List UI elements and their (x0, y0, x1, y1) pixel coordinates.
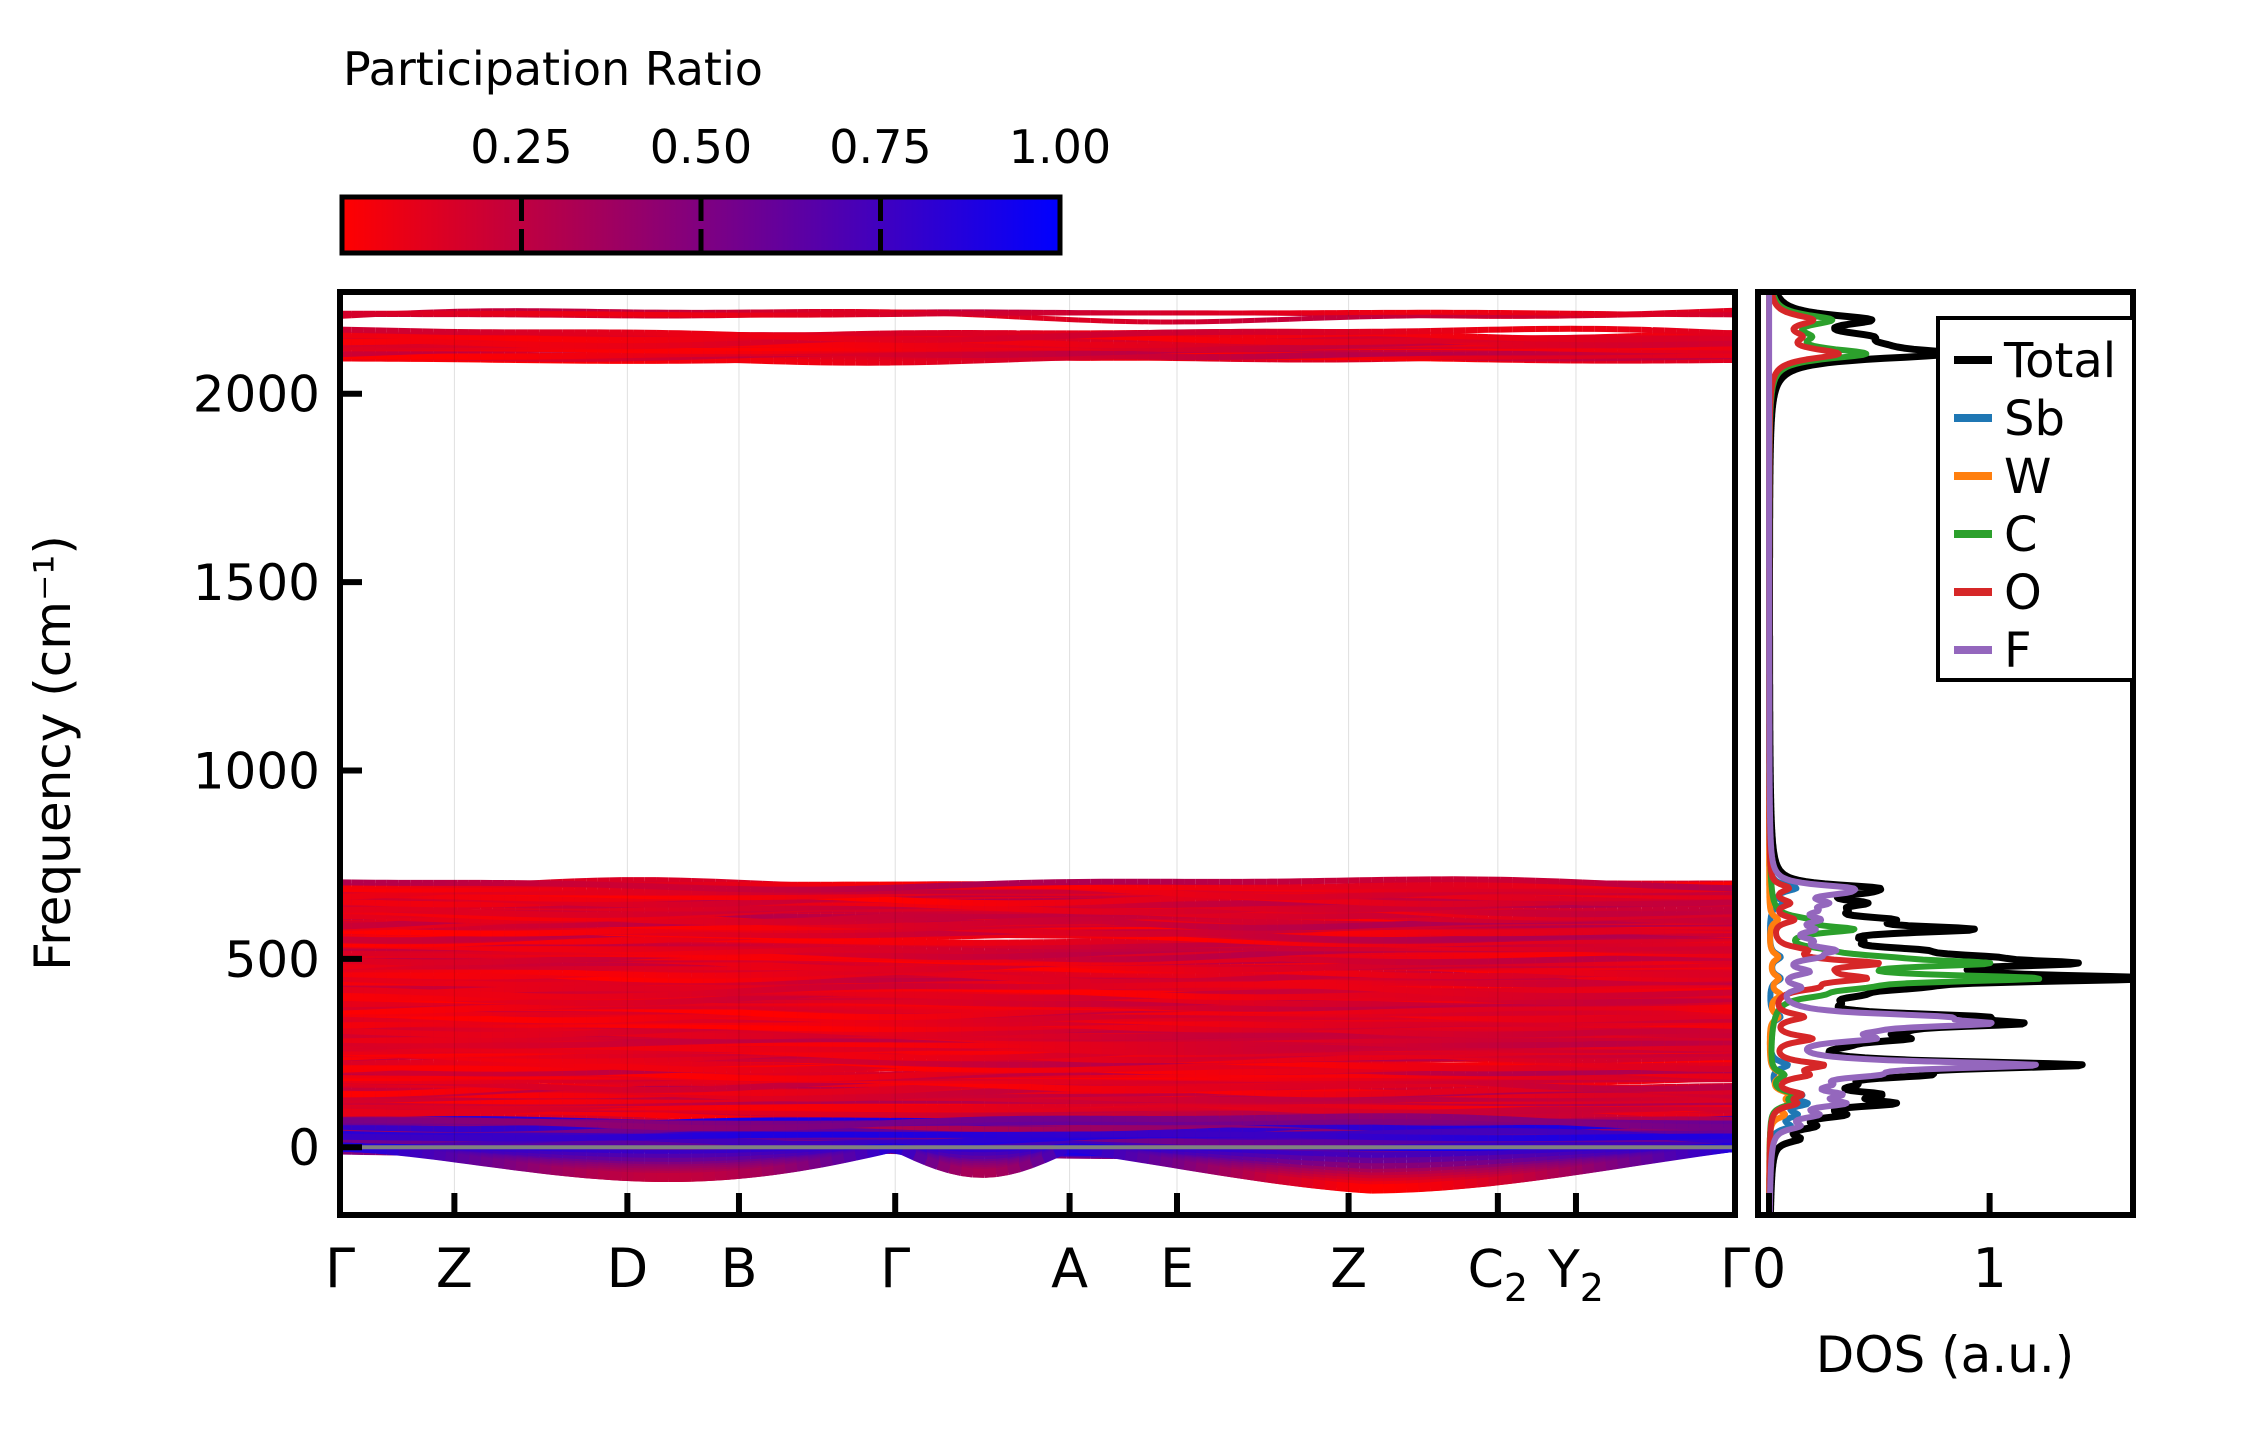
colorbar-title: Participation Ratio (343, 42, 763, 96)
figure-canvas: Participation Ratio 0.250.500.751.00 050… (0, 0, 2259, 1455)
colorbar-tick-label: 0.25 (470, 120, 572, 174)
colorbar-tick-label: 1.00 (1009, 120, 1111, 174)
phonon-figure-svg: Participation Ratio 0.250.500.751.00 050… (0, 0, 2259, 1455)
colorbar-tick-label: 0.50 (650, 120, 752, 174)
colorbar-tick-label: 0.75 (829, 120, 931, 174)
band-segment (1372, 970, 1384, 971)
